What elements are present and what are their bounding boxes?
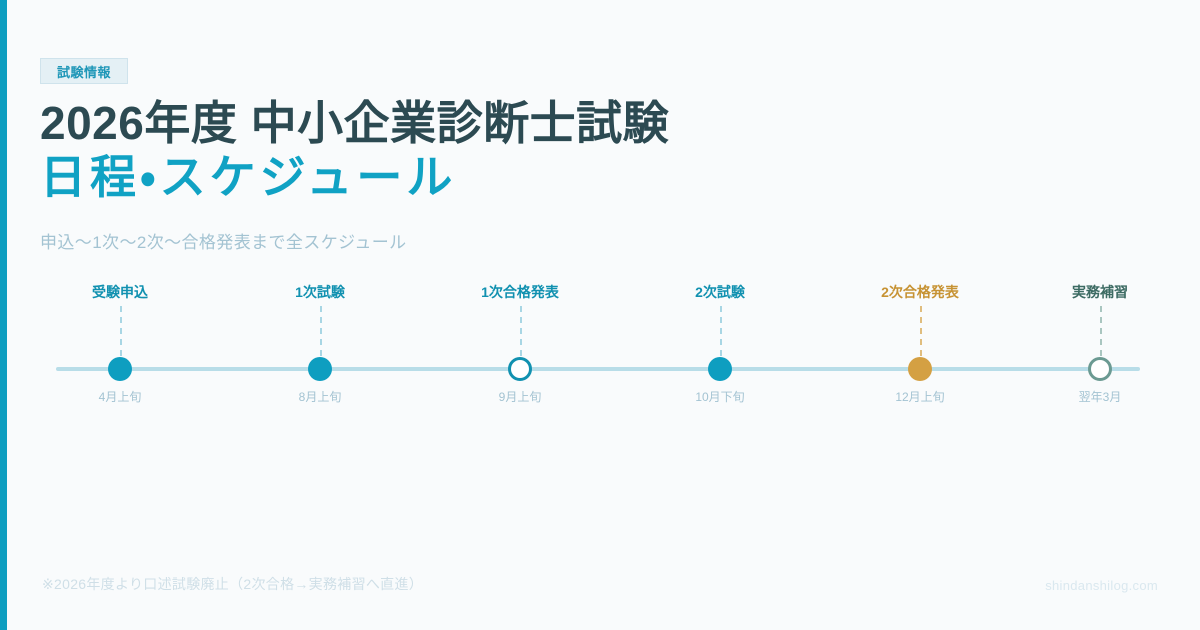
footnote: ※2026年度より口述試験廃止（2次合格→実務補習へ直進） (42, 574, 423, 594)
milestone-date: 翌年3月 (1000, 388, 1200, 405)
milestone-connector-line (520, 306, 522, 356)
milestone-connector-line (920, 306, 922, 356)
milestone-label: 実務補習 (1000, 282, 1200, 302)
milestone-date: 4月上旬 (20, 388, 220, 405)
milestone-dot-icon (108, 357, 132, 381)
title-line-primary: 2026年度 中小企業診断士試験 (40, 96, 1040, 150)
infographic-poster: 試験情報 2026年度 中小企業診断士試験 日程・スケジュール 申込〜1次〜2次… (0, 0, 1200, 630)
milestone-label: 受験申込 (20, 282, 220, 302)
milestone-label: 1次合格発表 (420, 282, 620, 302)
page-title: 2026年度 中小企業診断士試験 日程・スケジュール (40, 96, 1040, 205)
milestone-dot-icon (708, 357, 732, 381)
milestone-date: 8月上旬 (220, 388, 420, 405)
milestone-date: 12月上旬 (820, 388, 1020, 405)
milestone-dot-icon (1088, 357, 1112, 381)
timeline-milestone: 受験申込4月上旬 (20, 270, 220, 420)
milestone-connector-line (320, 306, 322, 356)
milestone-label: 2次試験 (620, 282, 820, 302)
milestone-date: 10月下旬 (620, 388, 820, 405)
category-badge: 試験情報 (40, 58, 128, 84)
timeline-milestone: 2次試験10月下旬 (620, 270, 820, 420)
timeline-milestone: 1次合格発表9月上旬 (420, 270, 620, 420)
title-line-secondary: 日程・スケジュール (40, 150, 1040, 204)
milestone-dot-icon (508, 357, 532, 381)
timeline: 受験申込4月上旬1次試験8月上旬1次合格発表9月上旬2次試験10月下旬2次合格発… (0, 270, 1200, 420)
milestone-date: 9月上旬 (420, 388, 620, 405)
site-watermark: shindanshilog.com (1045, 578, 1158, 593)
milestone-connector-line (120, 306, 122, 356)
timeline-milestone: 1次試験8月上旬 (220, 270, 420, 420)
milestone-dot-icon (308, 357, 332, 381)
timeline-milestone: 2次合格発表12月上旬 (820, 270, 1020, 420)
milestone-connector-line (1100, 306, 1102, 356)
milestone-label: 1次試験 (220, 282, 420, 302)
page-subtitle: 申込〜1次〜2次〜合格発表まで全スケジュール (40, 228, 407, 253)
milestone-label: 2次合格発表 (820, 282, 1020, 302)
milestone-dot-icon (908, 357, 932, 381)
timeline-milestone: 実務補習翌年3月 (1000, 270, 1200, 420)
milestone-connector-line (720, 306, 722, 356)
